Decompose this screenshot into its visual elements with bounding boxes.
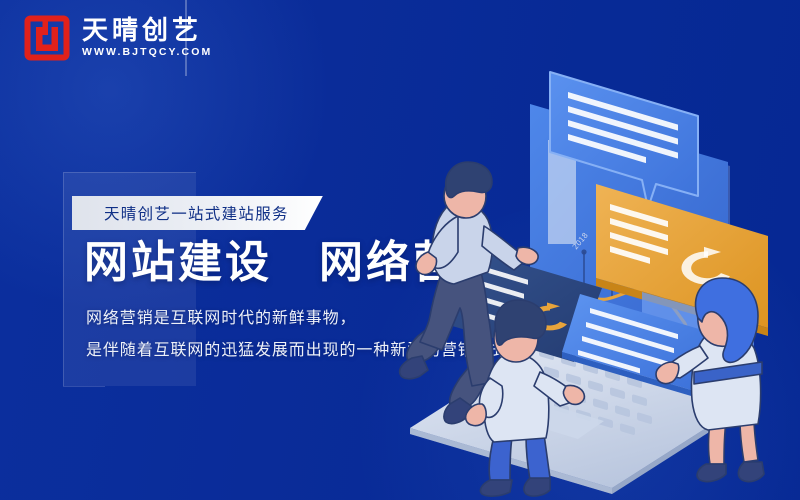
headline-gap: [272, 238, 319, 287]
banner-root: 天晴创艺 WWW.BJTQCY.COM 天晴创艺一站式建站服务 网站建设 网络营…: [0, 0, 800, 500]
logo-website-url: WWW.BJTQCY.COM: [82, 47, 212, 58]
logo-company-name: 天晴创艺: [82, 18, 212, 44]
tagline-badge: 天晴创艺一站式建站服务: [72, 196, 323, 230]
headline-left-text: 网站建设: [84, 238, 272, 287]
tagline-text: 天晴创艺一站式建站服务: [104, 202, 289, 224]
tianqing-chuangyi-logo-mark-icon: [24, 15, 70, 61]
site-logo[interactable]: 天晴创艺 WWW.BJTQCY.COM: [24, 14, 212, 62]
logo-text-block: 天晴创艺 WWW.BJTQCY.COM: [82, 18, 212, 58]
isometric-laptop-illustration: 2018 2019 2020 2021: [398, 56, 800, 500]
